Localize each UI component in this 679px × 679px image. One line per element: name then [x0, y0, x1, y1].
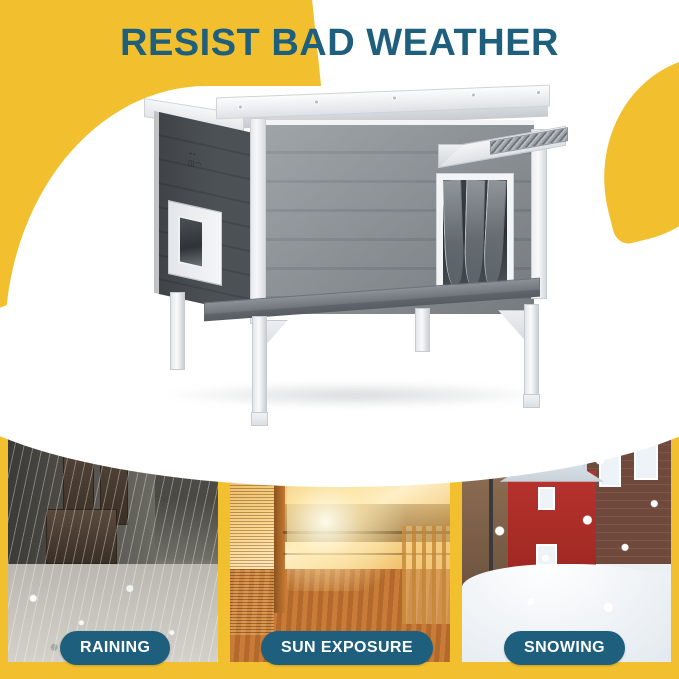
door-flap	[463, 180, 485, 285]
cat-house: ⌃⌃PETSFIT◫◠	[138, 82, 568, 407]
door-flap	[443, 180, 465, 285]
badge-raining: RAINING	[60, 631, 170, 665]
roof-screw-icon	[239, 105, 242, 108]
front-corner-post	[250, 118, 266, 324]
roof-screw-icon	[537, 91, 540, 94]
house-leg	[415, 308, 430, 352]
house-leg	[524, 304, 539, 396]
house-leg	[170, 292, 185, 370]
door-opening	[443, 180, 507, 285]
roof-screw-icon	[472, 93, 475, 96]
weather-conditions-strip: RAINING SUN EXPOSURE SNOWING	[0, 389, 679, 679]
leg-foot-plate	[251, 412, 268, 426]
right-corner-post	[531, 129, 547, 299]
brand-logo-icon: ⌃⌃PETSFIT◫◠	[188, 153, 202, 170]
roof-screw-icon	[315, 100, 318, 103]
hero-product-image: ⌃⌃PETSFIT◫◠	[0, 82, 679, 412]
leg-foot-plate	[523, 394, 540, 408]
door-flap	[482, 180, 507, 285]
roof-screw-icon	[393, 97, 396, 100]
badge-sun-exposure: SUN EXPOSURE	[261, 631, 433, 665]
page-title: RESIST BAD WEATHER	[0, 22, 679, 65]
side-window-opening	[178, 215, 204, 269]
badge-snowing: SNOWING	[504, 631, 625, 665]
house-leg	[252, 316, 267, 414]
infographic-page: RESIST BAD WEATHER ⌃⌃PETSFIT◫◠	[0, 0, 679, 679]
